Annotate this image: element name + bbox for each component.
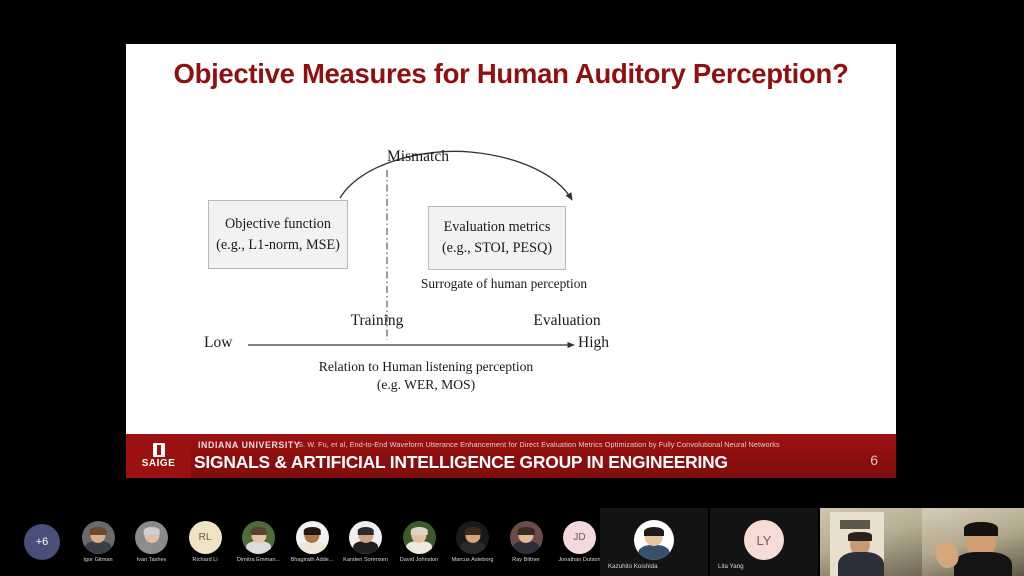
evaluation-metrics-line1: Evaluation metrics <box>442 217 552 238</box>
saige-logo: SAIGE <box>126 434 191 478</box>
participant-thumbnail[interactable]: Ray Bittner <box>500 508 552 576</box>
training-phase-label: Training <box>322 312 432 330</box>
avatar-face <box>135 521 168 554</box>
meeting-screen: Objective Measures for Human Auditory Pe… <box>0 0 1024 576</box>
avatar-face <box>456 521 489 554</box>
participant-name: Ray Bittner <box>512 557 540 563</box>
participant-name: Dimitra Emman... <box>237 557 280 563</box>
saige-logo-word: SAIGE <box>142 458 176 469</box>
participant-name: Marcus Asteborg <box>452 557 494 563</box>
participant-name: Ivan Tashev <box>137 557 167 563</box>
photo-avatar <box>135 521 168 554</box>
mismatch-label: Mismatch <box>354 148 482 166</box>
avatar-face <box>242 521 275 554</box>
participant-name: Bhagirath Adde... <box>291 557 334 563</box>
objective-function-line1: Objective function <box>216 214 340 235</box>
evaluation-phase-label: Evaluation <box>502 312 632 330</box>
photo-avatar <box>456 521 489 554</box>
participant-thumbnail[interactable]: Bhagirath Adde... <box>286 508 338 576</box>
photo-avatar <box>296 521 329 554</box>
initials-avatar: RL <box>189 521 222 554</box>
participant-name: Karsten Sorensen <box>343 557 388 563</box>
participant-thumbnail[interactable]: RLRichard Li <box>179 508 231 576</box>
participant-thumbnail[interactable]: Igor Gitman <box>72 508 124 576</box>
iu-trident-icon <box>153 443 165 457</box>
participant-name: David Johnston <box>400 557 439 563</box>
axis-caption-line1: Relation to Human listening perception <box>266 358 586 376</box>
participant-name: Kazuhito Koishida <box>608 563 658 570</box>
initials-avatar: JD <box>563 521 596 554</box>
initials-avatar: LY <box>744 520 784 560</box>
objective-function-line2: (e.g., L1-norm, MSE) <box>216 235 340 256</box>
concept-diagram: Mismatch Objective function (e.g., L1-no… <box>126 44 896 444</box>
avatar-initials: LY <box>757 533 772 548</box>
paper-citation: S. W. Fu, et al, End-to-End Waveform Utt… <box>298 440 878 449</box>
participant-thumbnail[interactable]: David Johnston <box>393 508 445 576</box>
slide-footer: SAIGE INDIANA UNIVERSITY S. W. Fu, et al… <box>126 434 896 478</box>
video-tile-left[interactable] <box>820 508 922 576</box>
evaluation-metrics-box: Evaluation metrics (e.g., STOI, PESQ) <box>428 206 566 270</box>
avatar-face <box>296 521 329 554</box>
axis-low-label: Low <box>204 334 232 352</box>
photo-avatar <box>634 520 674 560</box>
photo-avatar <box>349 521 382 554</box>
objective-function-box: Objective function (e.g., L1-norm, MSE) <box>208 200 348 269</box>
participant-thumbnail[interactable]: Karsten Sorensen <box>340 508 392 576</box>
overflow-count-label: +6 <box>36 536 49 548</box>
avatar-initials: RL <box>199 532 212 543</box>
participant-thumbnail[interactable]: Marcus Asteborg <box>447 508 499 576</box>
presentation-slide: Objective Measures for Human Auditory Pe… <box>126 44 896 478</box>
axis-caption: Relation to Human listening perception (… <box>266 358 586 395</box>
axis-caption-line2: (e.g. WER, MOS) <box>266 376 586 394</box>
surrogate-caption: Surrogate of human perception <box>404 276 604 292</box>
participant-overflow-badge[interactable]: +6 <box>16 508 68 576</box>
axis-high-label: High <box>578 334 609 352</box>
participant-name: Jonathan Dutson <box>558 557 600 563</box>
university-name: INDIANA UNIVERSITY <box>198 440 300 450</box>
overflow-count-avatar: +6 <box>24 524 60 560</box>
photo-avatar <box>510 521 543 554</box>
avatar-face <box>510 521 543 554</box>
photo-avatar <box>403 521 436 554</box>
participant-thumbnail[interactable]: JDJonathan Dutson <box>554 508 606 576</box>
avatar-initials: JD <box>573 532 585 543</box>
participant-tile[interactable]: Kazuhito Koishida <box>600 508 708 576</box>
evaluation-metrics-line2: (e.g., STOI, PESQ) <box>442 238 552 259</box>
participant-strip: +6 Igor GitmanIvan TashevRLRichard LiDim… <box>0 508 1024 576</box>
video-tile-right[interactable] <box>922 508 1024 576</box>
participant-name: Igor Gitman <box>83 557 112 563</box>
photo-avatar <box>242 521 275 554</box>
slide-page-number: 6 <box>870 452 878 468</box>
participant-thumbnail[interactable]: Dimitra Emman... <box>233 508 285 576</box>
photo-avatar <box>82 521 115 554</box>
avatar-face <box>82 521 115 554</box>
avatar-face <box>349 521 382 554</box>
avatar-face <box>634 520 674 560</box>
participant-thumbnail[interactable]: Ivan Tashev <box>126 508 178 576</box>
participant-name: Lita Yang <box>718 563 744 570</box>
participant-tile[interactable]: LYLita Yang <box>710 508 818 576</box>
avatar-face <box>403 521 436 554</box>
group-name: SIGNALS & ARTIFICIAL INTELLIGENCE GROUP … <box>194 452 728 473</box>
participant-name: Richard Li <box>192 557 217 563</box>
